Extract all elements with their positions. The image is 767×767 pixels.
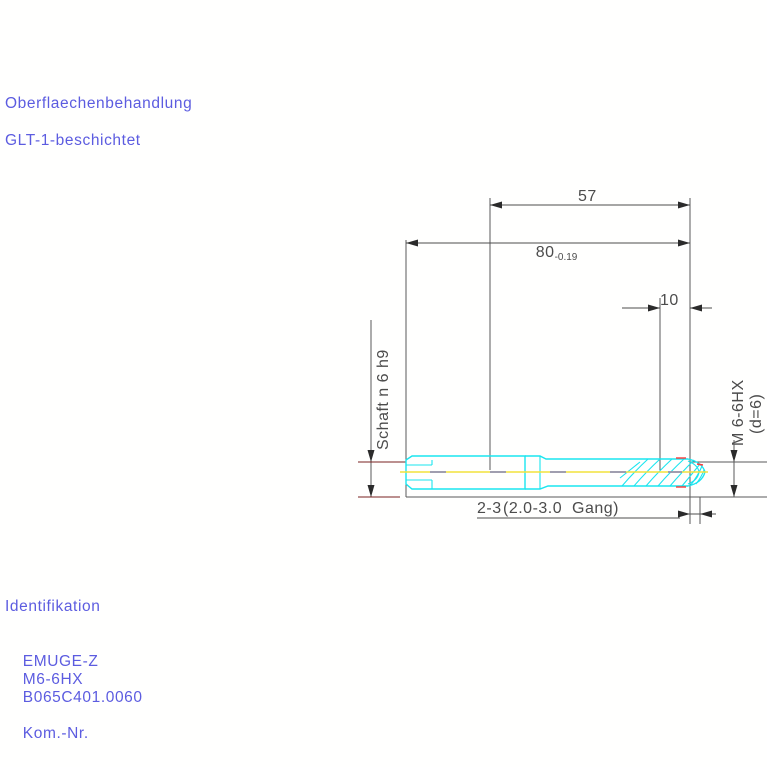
arrowhead-chamfer-right (700, 511, 712, 518)
arrowhead-57-left (490, 202, 502, 209)
tool-relief-mark-tip (697, 464, 703, 465)
cad-drawing-canvas: Oberflaechenbehandlung GLT-1-beschichtet… (0, 0, 767, 767)
arrowhead-thread-down (731, 485, 738, 497)
tool-neck-top (525, 456, 620, 459)
arrowhead-10-right (690, 305, 702, 312)
arrowhead-thread-up (731, 450, 738, 462)
arrowhead-shank-up (368, 450, 375, 462)
tool-neck-bottom (525, 486, 620, 489)
arrowhead-57-right (678, 202, 690, 209)
arrowhead-shank-down (368, 485, 375, 497)
arrowhead-10-left (648, 305, 660, 312)
arrowhead-80-left (406, 240, 418, 247)
tap-tool-body (400, 456, 708, 489)
arrowhead-chamfer-left (678, 511, 690, 518)
arrowhead-80-right (678, 240, 690, 247)
drawing-geometry (0, 0, 767, 767)
